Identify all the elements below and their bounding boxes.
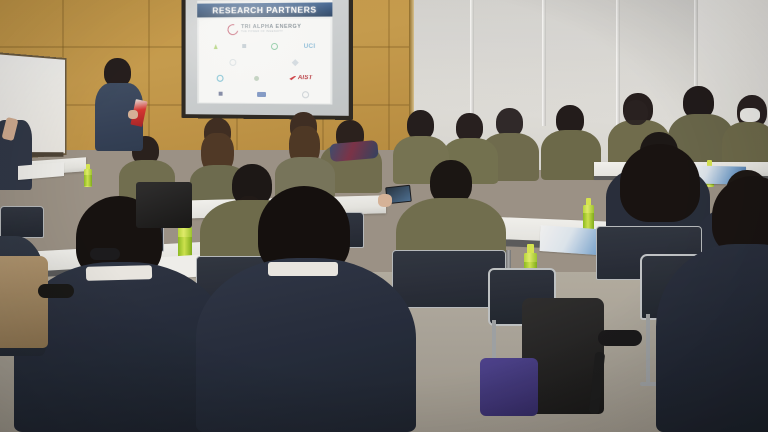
face-mask [740, 108, 760, 122]
shirt-collar [86, 265, 152, 281]
green-tea-bottle [583, 198, 594, 231]
chair[interactable] [0, 206, 44, 238]
attendee-head-foreground [620, 144, 700, 222]
shirt-collar [268, 262, 338, 276]
attendee-body-foreground [196, 258, 416, 432]
briefcase [136, 182, 192, 228]
purple-bag [480, 358, 538, 416]
projection-screen-frame: RESEARCH PARTNERS TRI ALPHA ENERGY THE P… [182, 0, 353, 120]
paper-handout [18, 162, 64, 180]
attendee-body [541, 130, 601, 180]
presenter-hand [128, 110, 138, 119]
tote-bag [0, 256, 48, 348]
screen-glare [186, 0, 349, 116]
hand [378, 194, 392, 207]
shoe [598, 330, 642, 346]
projection-screen: RESEARCH PARTNERS TRI ALPHA ENERGY THE P… [186, 0, 349, 116]
shoe [38, 284, 74, 298]
green-tea-bottle [84, 164, 92, 187]
chair-leg [646, 314, 650, 386]
attendee-head [624, 100, 648, 125]
shoe [90, 248, 120, 260]
conference-room-photo: RESEARCH PARTNERS TRI ALPHA ENERGY THE P… [0, 0, 768, 432]
